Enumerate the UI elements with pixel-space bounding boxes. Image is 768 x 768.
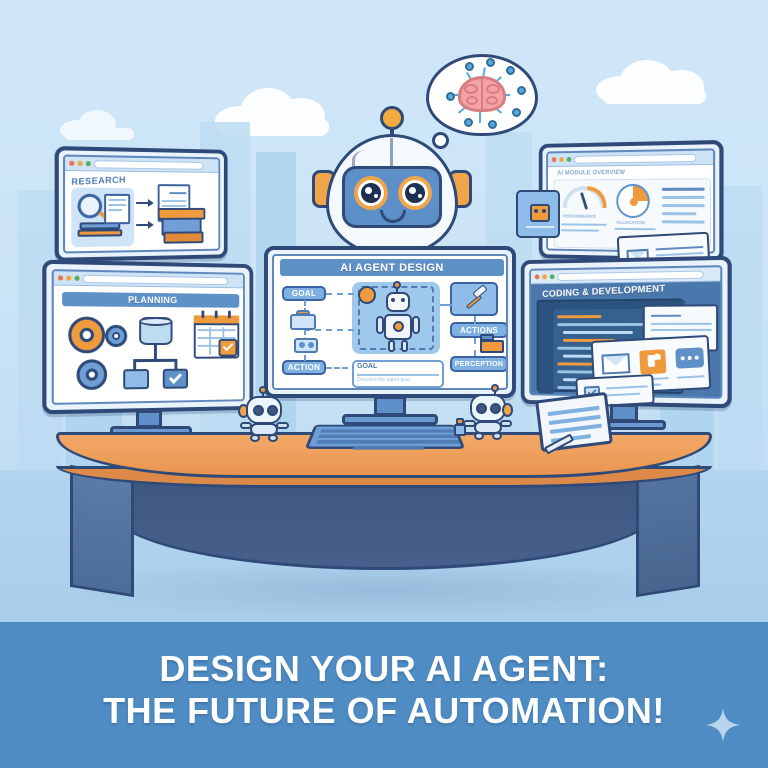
node-actions[interactable]: ACTIONS — [450, 322, 508, 338]
robot-eye — [476, 403, 487, 414]
toolbox-icon — [290, 314, 316, 330]
tool-card[interactable] — [450, 282, 498, 316]
design-heading-band: AI AGENT DESIGN — [280, 259, 504, 276]
network-node — [506, 66, 515, 75]
address-bar[interactable] — [557, 271, 703, 281]
hammer-icon — [461, 286, 487, 312]
node-perception[interactable]: PERCEPTION — [450, 356, 508, 372]
window-traffic-lights — [552, 157, 572, 162]
monitor-ai-agent-design[interactable]: AI AGENT DESIGN GOAL ACTION — [264, 246, 516, 398]
node-goal[interactable]: GOAL — [282, 286, 326, 301]
robot-arm — [240, 422, 252, 429]
design-heading: AI AGENT DESIGN — [340, 262, 443, 274]
connector — [474, 338, 476, 356]
robot-ear — [502, 403, 513, 417]
monitor-research[interactable]: RESEARCH — [56, 148, 232, 260]
robot-wheel — [492, 432, 502, 440]
window-traffic-lights — [58, 275, 80, 280]
network-node — [512, 108, 521, 117]
robot-wheel — [268, 434, 278, 442]
browser-window[interactable]: RESEARCH — [63, 154, 220, 253]
window-traffic-lights — [69, 161, 91, 166]
robot-chip-icon — [530, 204, 550, 222]
browser-toolbar — [548, 150, 713, 167]
network-node — [517, 86, 526, 95]
mini-robot-left — [238, 390, 294, 442]
robot-wheel — [474, 432, 484, 440]
monitor-coding-development[interactable]: CODING & DEVELOPMENT — [516, 258, 730, 406]
truck-icon — [480, 340, 504, 353]
network-node — [488, 120, 497, 129]
browser-toolbar — [531, 267, 720, 284]
node-action[interactable]: ACTION — [282, 360, 326, 375]
robot-eye — [490, 403, 501, 414]
gauge-label: PERFORMANCE — [563, 214, 596, 219]
goal-field-label: GOAL — [357, 363, 377, 370]
monitor-planning[interactable]: PLANNING — [44, 262, 258, 412]
coding-heading: CODING & DEVELOPMENT — [542, 283, 665, 300]
mini-robot-right — [462, 388, 518, 440]
connector — [474, 316, 476, 324]
design-canvas[interactable]: AI AGENT DESIGN GOAL ACTION — [272, 254, 508, 390]
robot-eye-right — [402, 180, 428, 206]
robot-arm — [500, 420, 512, 427]
robot-eye — [253, 405, 264, 416]
monitor-stand — [374, 396, 406, 416]
chat-bubble-icon — [675, 347, 704, 368]
notepad-icon[interactable] — [535, 392, 613, 452]
desk-leg-left — [70, 465, 134, 597]
robot-chip-card[interactable] — [516, 190, 560, 238]
bottom-banner: DESIGN YOUR AI AGENT: THE FUTURE OF AUTO… — [0, 622, 768, 768]
ai-robot-mascot — [312, 98, 472, 258]
planning-heading: PLANNING — [128, 295, 177, 306]
robot-wheel — [250, 434, 260, 442]
planning-heading-band: PLANNING — [62, 292, 239, 308]
robot-eye-left — [358, 180, 384, 206]
address-bar[interactable] — [574, 154, 696, 164]
monitor-dashboard[interactable]: AI MODULE OVERVIEW PERFORMANCE ALLOCATIO… — [534, 142, 722, 260]
window-traffic-lights — [535, 274, 555, 279]
node-goal-label: GOAL — [292, 289, 316, 298]
connector — [440, 304, 452, 306]
research-heading: RESEARCH — [71, 174, 126, 187]
node-perception-label: PERCEPTION — [455, 361, 504, 368]
cube-icon — [454, 424, 466, 436]
browser-toolbar — [54, 271, 243, 288]
gauge-label: ALLOCATION — [616, 220, 645, 225]
node-action-label: ACTION — [288, 363, 320, 372]
network-node — [486, 58, 495, 67]
goal-field-placeholder: Describe the agent goal — [357, 377, 410, 383]
address-bar[interactable] — [83, 275, 228, 285]
browser-window[interactable]: PLANNING — [52, 269, 245, 405]
connector — [326, 367, 348, 369]
network-node — [465, 62, 474, 71]
banner-title-line-1: DESIGN YOUR AI AGENT: — [159, 648, 608, 689]
address-bar[interactable] — [94, 160, 203, 170]
connector — [326, 293, 354, 295]
robot-eye — [267, 405, 278, 416]
robot-icon — [386, 292, 410, 312]
banner-title: DESIGN YOUR AI AGENT: THE FUTURE OF AUTO… — [0, 648, 768, 733]
poster-canvas: RESEARCH — [0, 0, 768, 768]
keyboard-icon[interactable] — [305, 425, 466, 449]
robot-arm — [276, 422, 289, 429]
dashboard-heading: AI MODULE OVERVIEW — [557, 170, 625, 177]
toolbox-icon — [294, 338, 318, 353]
antenna-ball-icon — [380, 106, 404, 130]
flowchart-icon — [133, 359, 176, 362]
cloud-3 — [60, 110, 140, 140]
browser-toolbar — [65, 157, 218, 173]
gear-icon — [358, 286, 376, 304]
thumbs-up-icon — [639, 349, 666, 374]
sparkle-star-icon — [706, 708, 740, 742]
monitor-base — [342, 414, 438, 425]
cloud-2 — [596, 58, 716, 102]
banner-title-line-2: THE FUTURE OF AUTOMATION! — [0, 690, 768, 732]
desk-leg-right — [636, 465, 700, 597]
